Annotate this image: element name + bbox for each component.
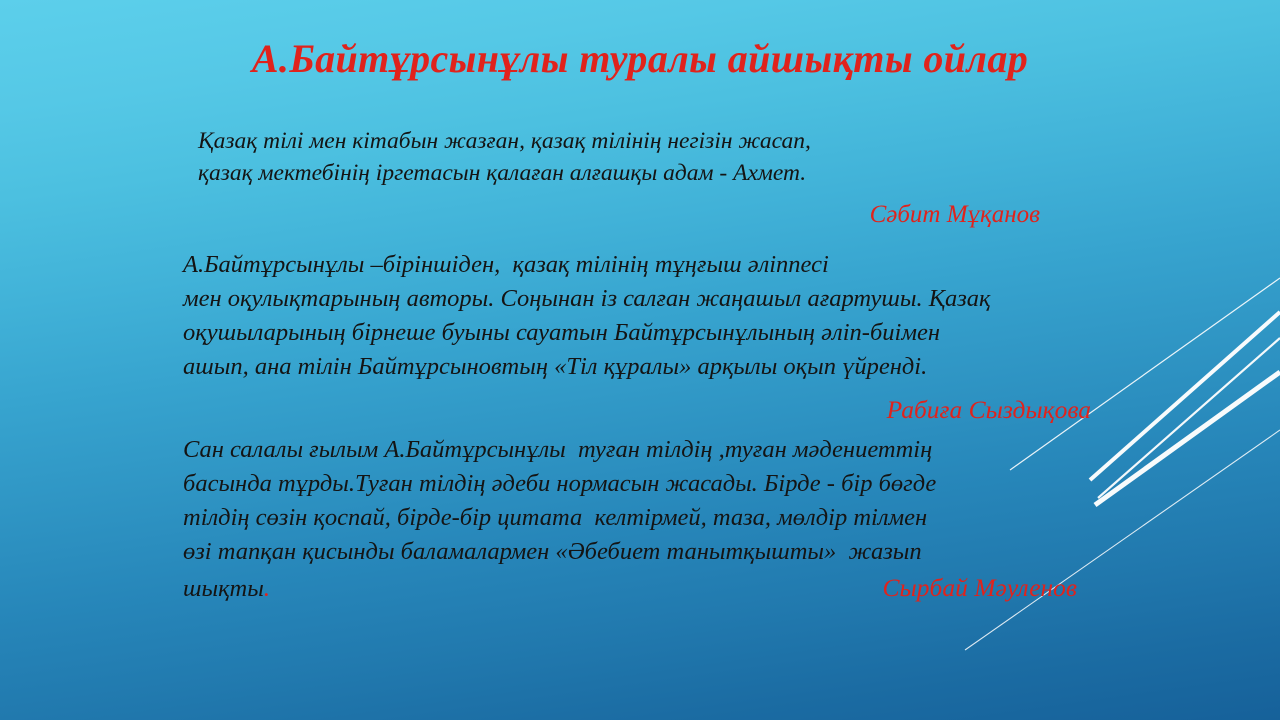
quote-1-line-2: қазақ мектебінің іргетасын қалаған алғаш… <box>198 158 1078 190</box>
quote-2-line-2: мен оқулықтарының авторы. Соңынан із сал… <box>183 282 1113 316</box>
streak-line-medium <box>1098 338 1280 498</box>
quote-3-last-line: шықты <box>183 570 264 608</box>
quote-block-2: А.Байтұрсынұлы –біріншіден, қазақ тіліні… <box>183 248 1113 430</box>
quote-block-3: Сан салалы ғылым А.Байтұрсынұлы туған ті… <box>183 433 1123 608</box>
quote-3-final-punctuation: . <box>264 570 270 608</box>
quote-3-line-2: басында тұрды.Туған тілдің әдеби нормасы… <box>183 467 1123 501</box>
quote-3-line-1: Сан салалы ғылым А.Байтұрсынұлы туған ті… <box>183 433 1123 467</box>
presentation-slide: А.Байтұрсынұлы туралы айшықты ойлар Қаза… <box>0 0 1280 720</box>
quote-3-line-3: тілдің сөзін қоспай, бірде-бір цитата ке… <box>183 501 1123 535</box>
quote-2-author: Рабиға Сыздықова <box>183 390 1113 430</box>
quote-1-line-1: Қазақ тілі мен кітабын жазған, қазақ тіл… <box>198 126 1078 158</box>
slide-title: А.Байтұрсынұлы туралы айшықты ойлар <box>0 36 1280 82</box>
quote-1-author: Сәбит Мұқанов <box>198 196 1078 234</box>
quote-2-line-1: А.Байтұрсынұлы –біріншіден, қазақ тіліні… <box>183 248 1113 282</box>
quote-3-last-line-row: шықты. Сырбай Мәуленов <box>183 569 1123 608</box>
quote-3-line-4: өзі тапқан қисынды баламалармен «Әбебиет… <box>183 535 1123 569</box>
quote-2-line-4: ашып, ана тілін Байтұрсыновтың «Тіл құра… <box>183 350 1113 384</box>
quote-block-1: Қазақ тілі мен кітабын жазған, қазақ тіл… <box>198 126 1078 234</box>
quote-2-line-3: оқушыларының бірнеше буыны сауатын Байтұ… <box>183 316 1113 350</box>
quote-3-author: Сырбай Мәуленов <box>883 569 1123 607</box>
